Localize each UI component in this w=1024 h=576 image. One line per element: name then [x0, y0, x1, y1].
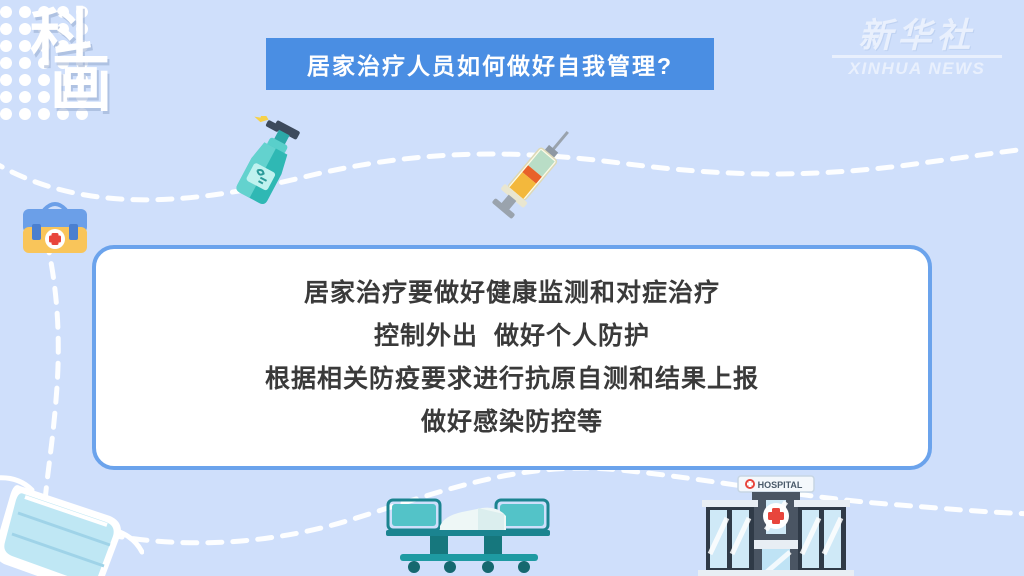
- grid-dot: [0, 91, 12, 103]
- xinhua-chinese-text: 新华社: [832, 18, 1002, 54]
- brand-logo: 科 画: [28, 16, 158, 111]
- grid-dot: [0, 23, 12, 35]
- hospital-sign-text: HOSPITAL: [758, 480, 803, 490]
- face-mask-icon: [0, 472, 144, 576]
- content-line-4: 做好感染防控等: [421, 401, 603, 444]
- hospital-bed-icon: [378, 494, 560, 574]
- grid-dot: [0, 108, 12, 120]
- title-banner: 居家治疗人员如何做好自我管理?: [266, 38, 714, 90]
- xinhua-english-text: XINHUA NEWS: [832, 60, 1002, 78]
- xinhua-rule: [832, 55, 1002, 58]
- grid-dot: [0, 40, 12, 52]
- grid-dot: [0, 6, 12, 18]
- syringe-icon: [480, 118, 590, 224]
- grid-dot: [0, 57, 12, 69]
- content-line-2: 控制外出 做好个人防护: [374, 315, 650, 358]
- content-line-3: 根据相关防疫要求进行抗原自测和结果上报: [265, 358, 759, 401]
- content-line-1: 居家治疗要做好健康监测和对症治疗: [304, 272, 720, 315]
- grid-dot: [0, 74, 12, 86]
- page-title: 居家治疗人员如何做好自我管理?: [307, 47, 673, 81]
- poster-canvas: 科 画 居家治疗人员如何做好自我管理? 新华社 XINHUA NEWS: [0, 0, 1024, 576]
- hospital-building-icon: HOSPITAL: [688, 472, 864, 576]
- content-card: 居家治疗要做好健康监测和对症治疗 控制外出 做好个人防护 根据相关防疫要求进行抗…: [92, 245, 932, 470]
- spray-bottle-icon: [228, 116, 314, 212]
- xinhua-news-logo: 新华社 XINHUA NEWS: [832, 18, 1002, 78]
- medical-kit-icon: [14, 196, 96, 262]
